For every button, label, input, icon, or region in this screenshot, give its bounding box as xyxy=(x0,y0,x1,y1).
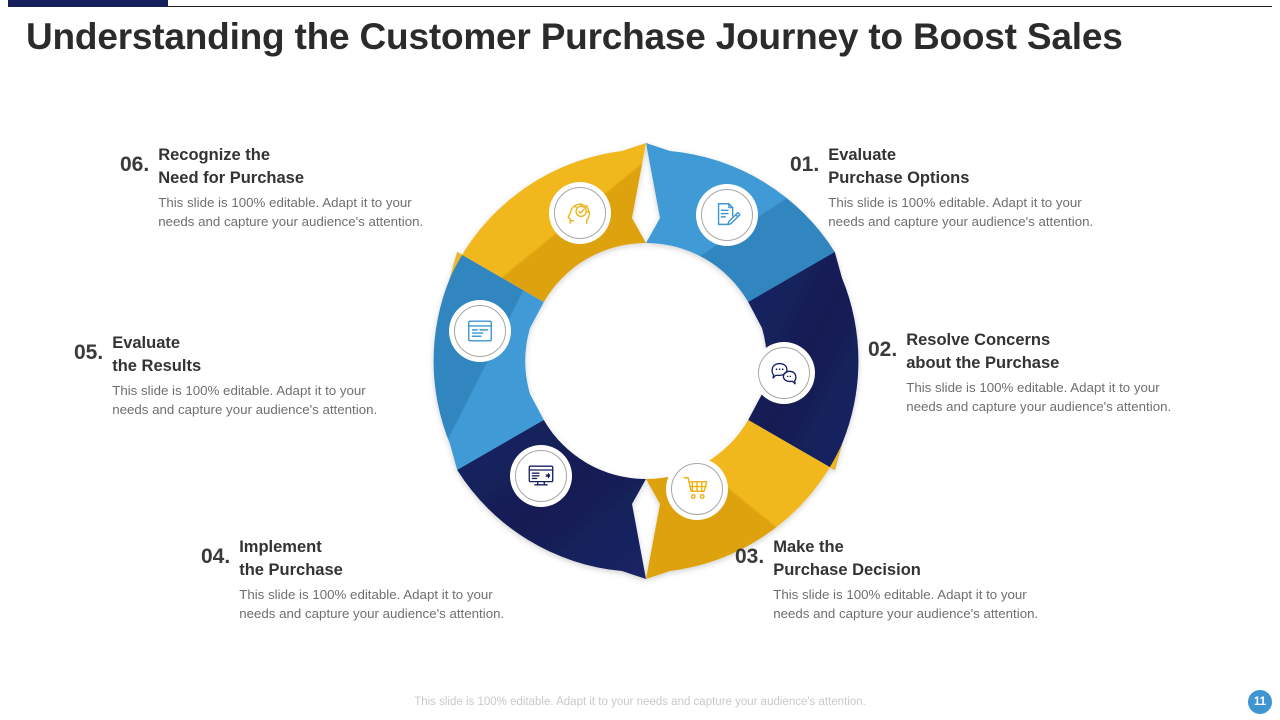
step-number-03: 03. xyxy=(735,536,764,568)
step-item-06[interactable]: 06. Recognize the Need for Purchase This… xyxy=(120,144,423,232)
desktop-monitor-icon xyxy=(526,461,556,491)
page-number-badge: 11 xyxy=(1248,690,1272,714)
step-text-01: Evaluate Purchase Options This slide is … xyxy=(819,144,1093,232)
step-title-line2-06: Need for Purchase xyxy=(158,167,423,190)
step-icon-05 xyxy=(449,300,511,362)
step-text-05: Evaluate the Results This slide is 100% … xyxy=(103,332,377,420)
step-text-03: Make the Purchase Decision This slide is… xyxy=(764,536,1038,624)
step-number-01: 01. xyxy=(790,144,819,176)
step-desc-line2-06: needs and capture your audience's attent… xyxy=(158,212,423,231)
step-desc-02: This slide is 100% editable. Adapt it to… xyxy=(906,378,1171,417)
step-desc-01: This slide is 100% editable. Adapt it to… xyxy=(828,193,1093,232)
step-desc-line1-06: This slide is 100% editable. Adapt it to… xyxy=(158,193,423,212)
step-item-02[interactable]: 02. Resolve Concerns about the Purchase … xyxy=(868,329,1171,417)
step-title-line1-06: Recognize the xyxy=(158,144,423,167)
head-idea-icon xyxy=(565,198,595,228)
step-number-06: 06. xyxy=(120,144,149,176)
step-icon-04 xyxy=(510,445,572,507)
step-desc-line1-02: This slide is 100% editable. Adapt it to… xyxy=(906,378,1171,397)
step-text-02: Resolve Concerns about the Purchase This… xyxy=(897,329,1171,417)
step-title-line1-02: Resolve Concerns xyxy=(906,329,1171,352)
step-title-line2-03: Purchase Decision xyxy=(773,559,1038,582)
step-desc-line1-03: This slide is 100% editable. Adapt it to… xyxy=(773,585,1038,604)
step-text-04: Implement the Purchase This slide is 100… xyxy=(230,536,504,624)
step-desc-line2-04: needs and capture your audience's attent… xyxy=(239,604,504,623)
step-title-line1-05: Evaluate xyxy=(112,332,377,355)
speech-bubbles-icon xyxy=(769,358,799,388)
step-number-02: 02. xyxy=(868,329,897,361)
step-item-05[interactable]: 05. Evaluate the Results This slide is 1… xyxy=(74,332,377,420)
step-title-line1-04: Implement xyxy=(239,536,504,559)
step-icon-03 xyxy=(666,458,728,520)
step-icon-02 xyxy=(753,342,815,404)
step-desc-line2-03: needs and capture your audience's attent… xyxy=(773,604,1038,623)
step-item-01[interactable]: 01. Evaluate Purchase Options This slide… xyxy=(790,144,1093,232)
step-desc-line2-02: needs and capture your audience's attent… xyxy=(906,397,1171,416)
document-pencil-icon xyxy=(712,200,742,230)
step-title-line1-03: Make the xyxy=(773,536,1038,559)
step-icon-06 xyxy=(549,182,611,244)
step-title-line2-02: about the Purchase xyxy=(906,352,1171,375)
step-number-04: 04. xyxy=(201,536,230,568)
page-title: Understanding the Customer Purchase Jour… xyxy=(26,16,1246,58)
footer-note: This slide is 100% editable. Adapt it to… xyxy=(0,696,1280,708)
step-desc-line1-04: This slide is 100% editable. Adapt it to… xyxy=(239,585,504,604)
top-divider-rule xyxy=(8,6,1272,7)
step-title-line2-05: the Results xyxy=(112,355,377,378)
step-desc-line1-01: This slide is 100% editable. Adapt it to… xyxy=(828,193,1093,212)
step-desc-03: This slide is 100% editable. Adapt it to… xyxy=(773,585,1038,624)
step-title-line2-01: Purchase Options xyxy=(828,167,1093,190)
step-title-line1-01: Evaluate xyxy=(828,144,1093,167)
shopping-cart-icon xyxy=(682,474,712,504)
step-text-06: Recognize the Need for Purchase This sli… xyxy=(149,144,423,232)
step-item-03[interactable]: 03. Make the Purchase Decision This slid… xyxy=(735,536,1038,624)
step-desc-06: This slide is 100% editable. Adapt it to… xyxy=(158,193,423,232)
step-item-04[interactable]: 04. Implement the Purchase This slide is… xyxy=(201,536,504,624)
report-window-icon xyxy=(465,316,495,346)
top-accent-bar xyxy=(8,0,168,7)
step-desc-line2-05: needs and capture your audience's attent… xyxy=(112,400,377,419)
step-desc-05: This slide is 100% editable. Adapt it to… xyxy=(112,381,377,420)
step-icon-01 xyxy=(696,184,758,246)
step-number-05: 05. xyxy=(74,332,103,364)
step-title-line2-04: the Purchase xyxy=(239,559,504,582)
step-desc-line1-05: This slide is 100% editable. Adapt it to… xyxy=(112,381,377,400)
step-desc-line2-01: needs and capture your audience's attent… xyxy=(828,212,1093,231)
step-desc-04: This slide is 100% editable. Adapt it to… xyxy=(239,585,504,624)
